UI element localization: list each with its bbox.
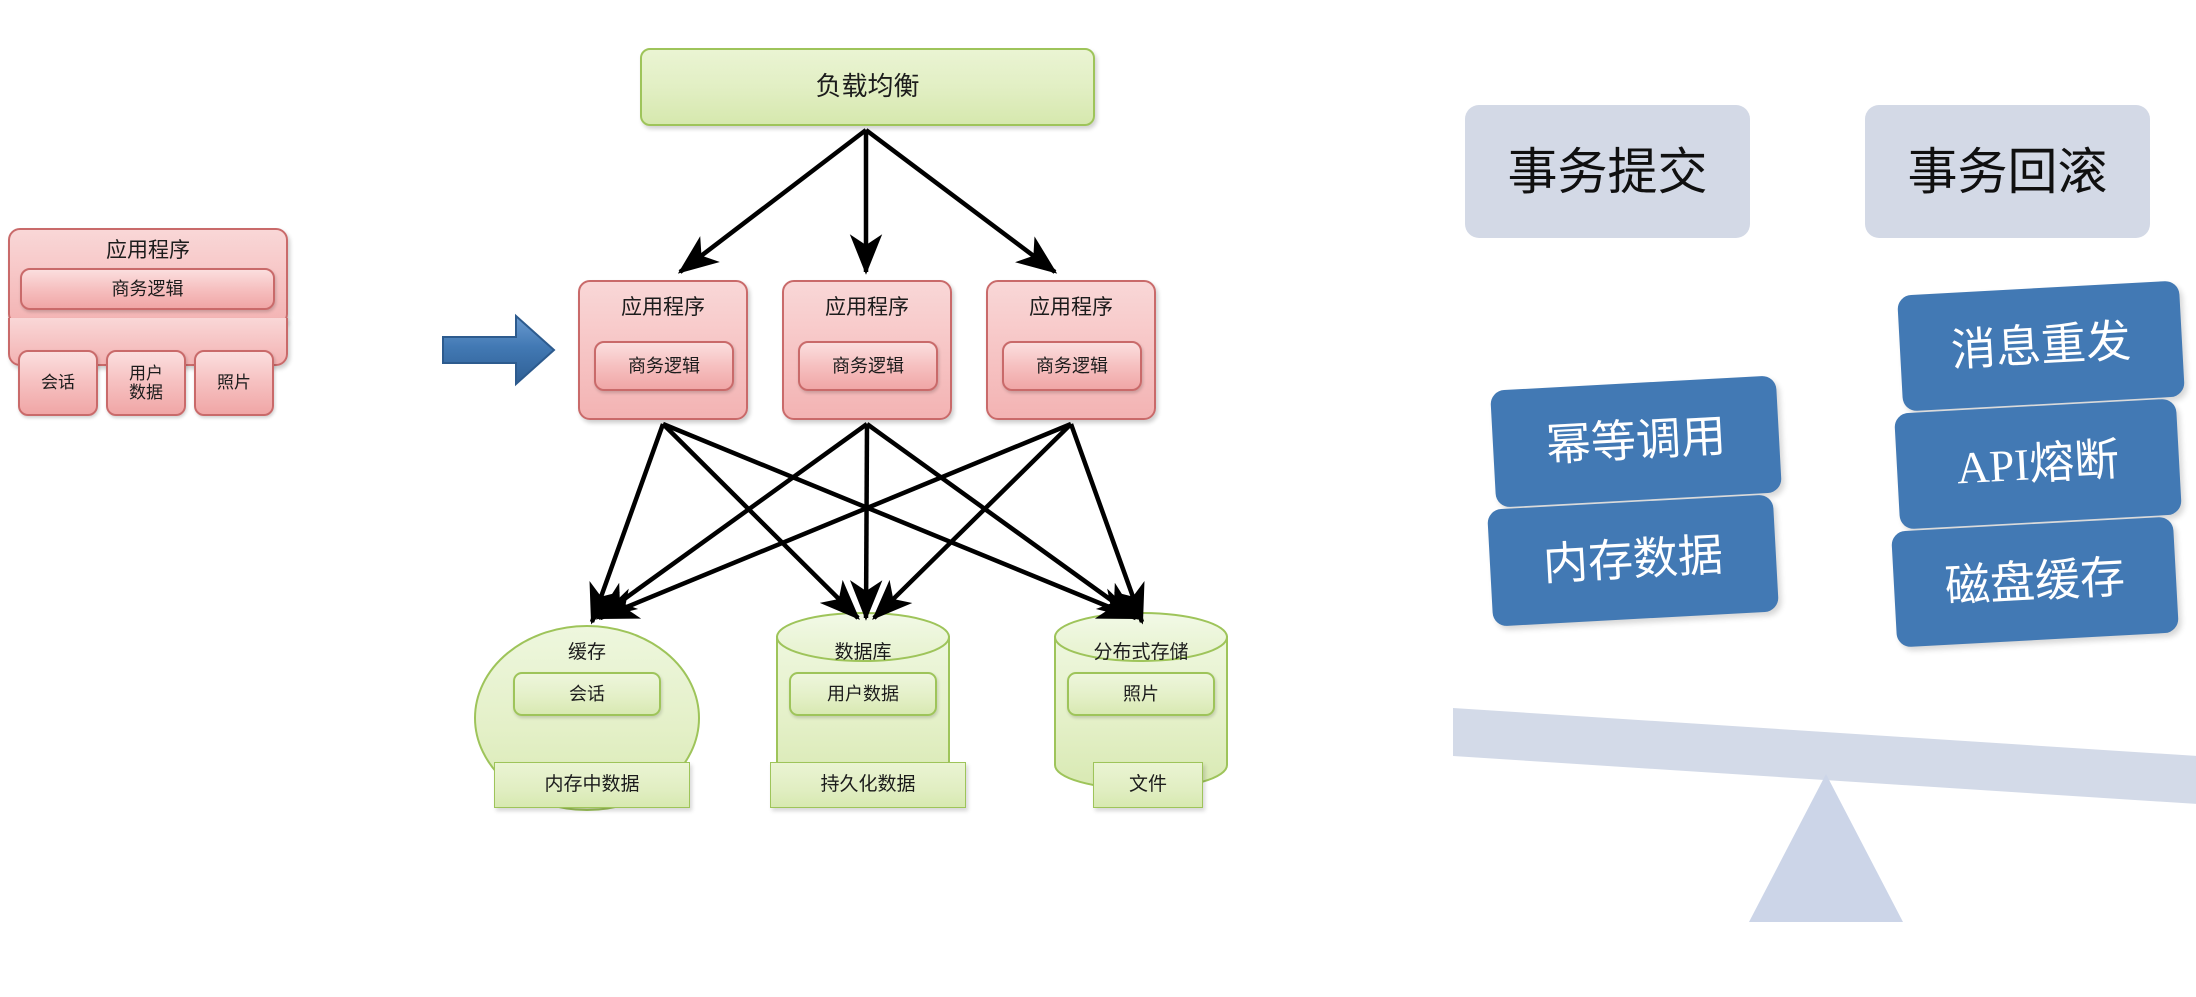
scale-left-item-1[interactable]: 幂等调用 — [1490, 375, 1782, 507]
app-server-1-business-logic[interactable]: 商务逻辑 — [594, 341, 734, 391]
store-distributed-inner-label: 照片 — [1069, 674, 1213, 714]
transaction-commit-card[interactable]: 事务提交 — [1465, 105, 1750, 238]
monolith-component-userdata[interactable]: 用户 数据 — [106, 350, 186, 416]
scale-right-item-1[interactable]: 消息重发 — [1897, 280, 2185, 411]
scale-right-item-3[interactable]: 磁盘缓存 — [1891, 516, 2179, 647]
app-server-2-business-logic-label: 商务逻辑 — [800, 343, 936, 389]
store-cache-title-label: 缓存 — [497, 637, 677, 669]
store-distributed-caption[interactable]: 文件 — [1093, 762, 1203, 808]
monolith-component-session[interactable]: 会话 — [18, 350, 98, 416]
store-cache-caption[interactable]: 内存中数据 — [494, 762, 690, 808]
store-distributed-title: 分布式存储 — [1051, 637, 1231, 669]
monolith-app-title-label: 应用程序 — [8, 233, 288, 269]
scale-left-item-1-label: 幂等调用 — [1490, 375, 1782, 507]
monolith-business-logic-box[interactable]: 商务逻辑 — [20, 268, 275, 310]
store-distributed-title-label: 分布式存储 — [1051, 637, 1231, 669]
app-server-3-business-logic[interactable]: 商务逻辑 — [1002, 341, 1142, 391]
store-database-inner[interactable]: 用户数据 — [789, 672, 937, 716]
scale-left-item-2-label: 内存数据 — [1487, 494, 1779, 626]
app-server-2-title: 应用程序 — [784, 282, 950, 334]
store-cache-caption-label: 内存中数据 — [495, 763, 689, 807]
store-cache-inner[interactable]: 会话 — [513, 672, 661, 716]
monolith-component-photo-label: 照片 — [196, 352, 272, 414]
store-database-caption-label: 持久化数据 — [771, 763, 965, 807]
scale-right-item-2[interactable]: API熔断 — [1894, 398, 2182, 529]
store-cache-inner-label: 会话 — [515, 674, 659, 714]
app-server-1-title: 应用程序 — [580, 282, 746, 334]
seesaw-beam — [1453, 708, 2196, 804]
store-database-title: 数据库 — [773, 637, 953, 669]
store-cache-title: 缓存 — [497, 637, 677, 669]
store-distributed-caption-label: 文件 — [1094, 763, 1202, 807]
transaction-rollback-label: 事务回滚 — [1865, 105, 2150, 238]
store-distributed-inner[interactable]: 照片 — [1067, 672, 1215, 716]
transaction-commit-label: 事务提交 — [1465, 105, 1750, 238]
monolith-business-logic-label: 商务逻辑 — [22, 270, 273, 308]
diagram-canvas: 应用程序 商务逻辑 会话 用户 数据 照片 负载均衡 应用程序 商务逻辑 应用程… — [0, 0, 2196, 997]
seesaw-fulcrum — [1749, 774, 1903, 922]
scale-left-item-2[interactable]: 内存数据 — [1487, 494, 1779, 626]
app-server-3-title: 应用程序 — [988, 282, 1154, 334]
monolith-component-userdata-label: 用户 数据 — [108, 352, 184, 414]
scale-right-item-3-label: 磁盘缓存 — [1891, 516, 2179, 647]
monolith-component-session-label: 会话 — [20, 352, 96, 414]
store-database-inner-label: 用户数据 — [791, 674, 935, 714]
app-server-2-business-logic[interactable]: 商务逻辑 — [798, 341, 938, 391]
load-balancer-box[interactable]: 负载均衡 — [640, 48, 1095, 126]
app-server-3-business-logic-label: 商务逻辑 — [1004, 343, 1140, 389]
monolith-component-photo[interactable]: 照片 — [194, 350, 274, 416]
monolith-app-title: 应用程序 — [8, 233, 288, 269]
store-database-title-label: 数据库 — [773, 637, 953, 669]
scale-right-item-2-label: API熔断 — [1894, 398, 2182, 529]
scale-right-item-1-label: 消息重发 — [1897, 280, 2185, 411]
load-balancer-label: 负载均衡 — [642, 50, 1093, 124]
app-server-1-business-logic-label: 商务逻辑 — [596, 343, 732, 389]
store-database-caption[interactable]: 持久化数据 — [770, 762, 966, 808]
transaction-rollback-card[interactable]: 事务回滚 — [1865, 105, 2150, 238]
